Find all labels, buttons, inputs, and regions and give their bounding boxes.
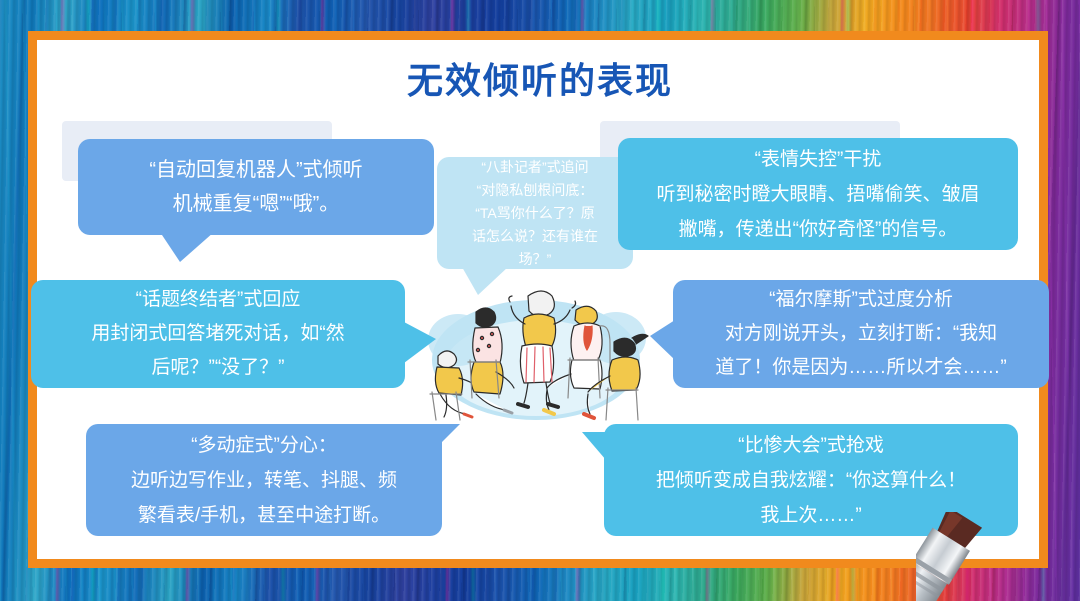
slide-canvas: 无效倾听的表现: [0, 0, 1080, 601]
callout-line: 繁看表/手机，甚至中途打断。: [96, 498, 432, 533]
callout-line: “对隐私刨根问底：: [445, 179, 625, 202]
callout-line: “福尔摩斯”式过度分析: [683, 283, 1039, 317]
callout-tail-sherlock-overanalysis: [650, 320, 675, 360]
callout-tail-gossip-reporter: [462, 267, 508, 295]
callout-box-topic-terminator[interactable]: “话题终结者”式回应 用封闭式回答堵死对话，如“然 后呢？”“没了？”: [31, 280, 405, 388]
callout-tail-topic-terminator: [404, 322, 436, 363]
group-discussion-illustration: [418, 268, 654, 430]
callout-line: “话题终结者”式回应: [41, 283, 395, 317]
callout-box-auto-reply-robot[interactable]: “自动回复机器人”式倾听 机械重复“嗯”“哦”。: [78, 139, 434, 235]
callout-line: 后呢？”“没了？”: [41, 351, 395, 385]
callout-box-sherlock-overanalysis[interactable]: “福尔摩斯”式过度分析 对方刚说开头，立刻打断：“我知 道了！你是因为……所以才…: [673, 280, 1049, 388]
callout-line: 话怎么说？还有谁在: [445, 225, 625, 248]
page-title: 无效倾听的表现: [0, 52, 1080, 104]
callout-box-gossip-reporter[interactable]: “八卦记者”式追问 “对隐私刨根问底： “TA骂你什么了？原 话怎么说？还有谁在…: [437, 157, 633, 269]
callout-line: “多动症式”分心：: [96, 428, 432, 463]
callout-line: 用封闭式回答堵死对话，如“然: [41, 317, 395, 351]
paintbrush-icon: [916, 512, 1056, 601]
callout-line: “比惨大会”式抢戏: [614, 428, 1008, 463]
callout-line: “TA骂你什么了？原: [445, 202, 625, 225]
callout-line: “八卦记者”式追问: [445, 156, 625, 179]
callout-line: 听到秘密时瞪大眼睛、捂嘴偷笑、皱眉: [630, 177, 1006, 212]
callout-line: “表情失控”干扰: [630, 142, 1006, 177]
callout-box-expression-out-of-control[interactable]: “表情失控”干扰 听到秘密时瞪大眼睛、捂嘴偷笑、皱眉 撇嘴，传递出“你好奇怪”的…: [618, 138, 1018, 250]
callout-line: “自动回复机器人”式倾听: [92, 153, 420, 187]
callout-line: 道了！你是因为……所以才会……”: [683, 351, 1039, 385]
callout-line: 边听边写作业，转笔、抖腿、频: [96, 463, 432, 498]
callout-tail-auto-reply-robot: [160, 232, 214, 262]
callout-box-hyperactive-distraction[interactable]: “多动症式”分心： 边听边写作业，转笔、抖腿、频 繁看表/手机，甚至中途打断。: [86, 424, 442, 536]
callout-tail-misery-contest: [582, 432, 606, 460]
callout-line: 把倾听变成自我炫耀：“你这算什么！: [614, 463, 1008, 498]
callout-line: 场？”: [445, 248, 625, 271]
callout-line: 撇嘴，传递出“你好奇怪”的信号。: [630, 212, 1006, 247]
callout-line: 机械重复“嗯”“哦”。: [92, 187, 420, 221]
callout-line: 对方刚说开头，立刻打断：“我知: [683, 317, 1039, 351]
